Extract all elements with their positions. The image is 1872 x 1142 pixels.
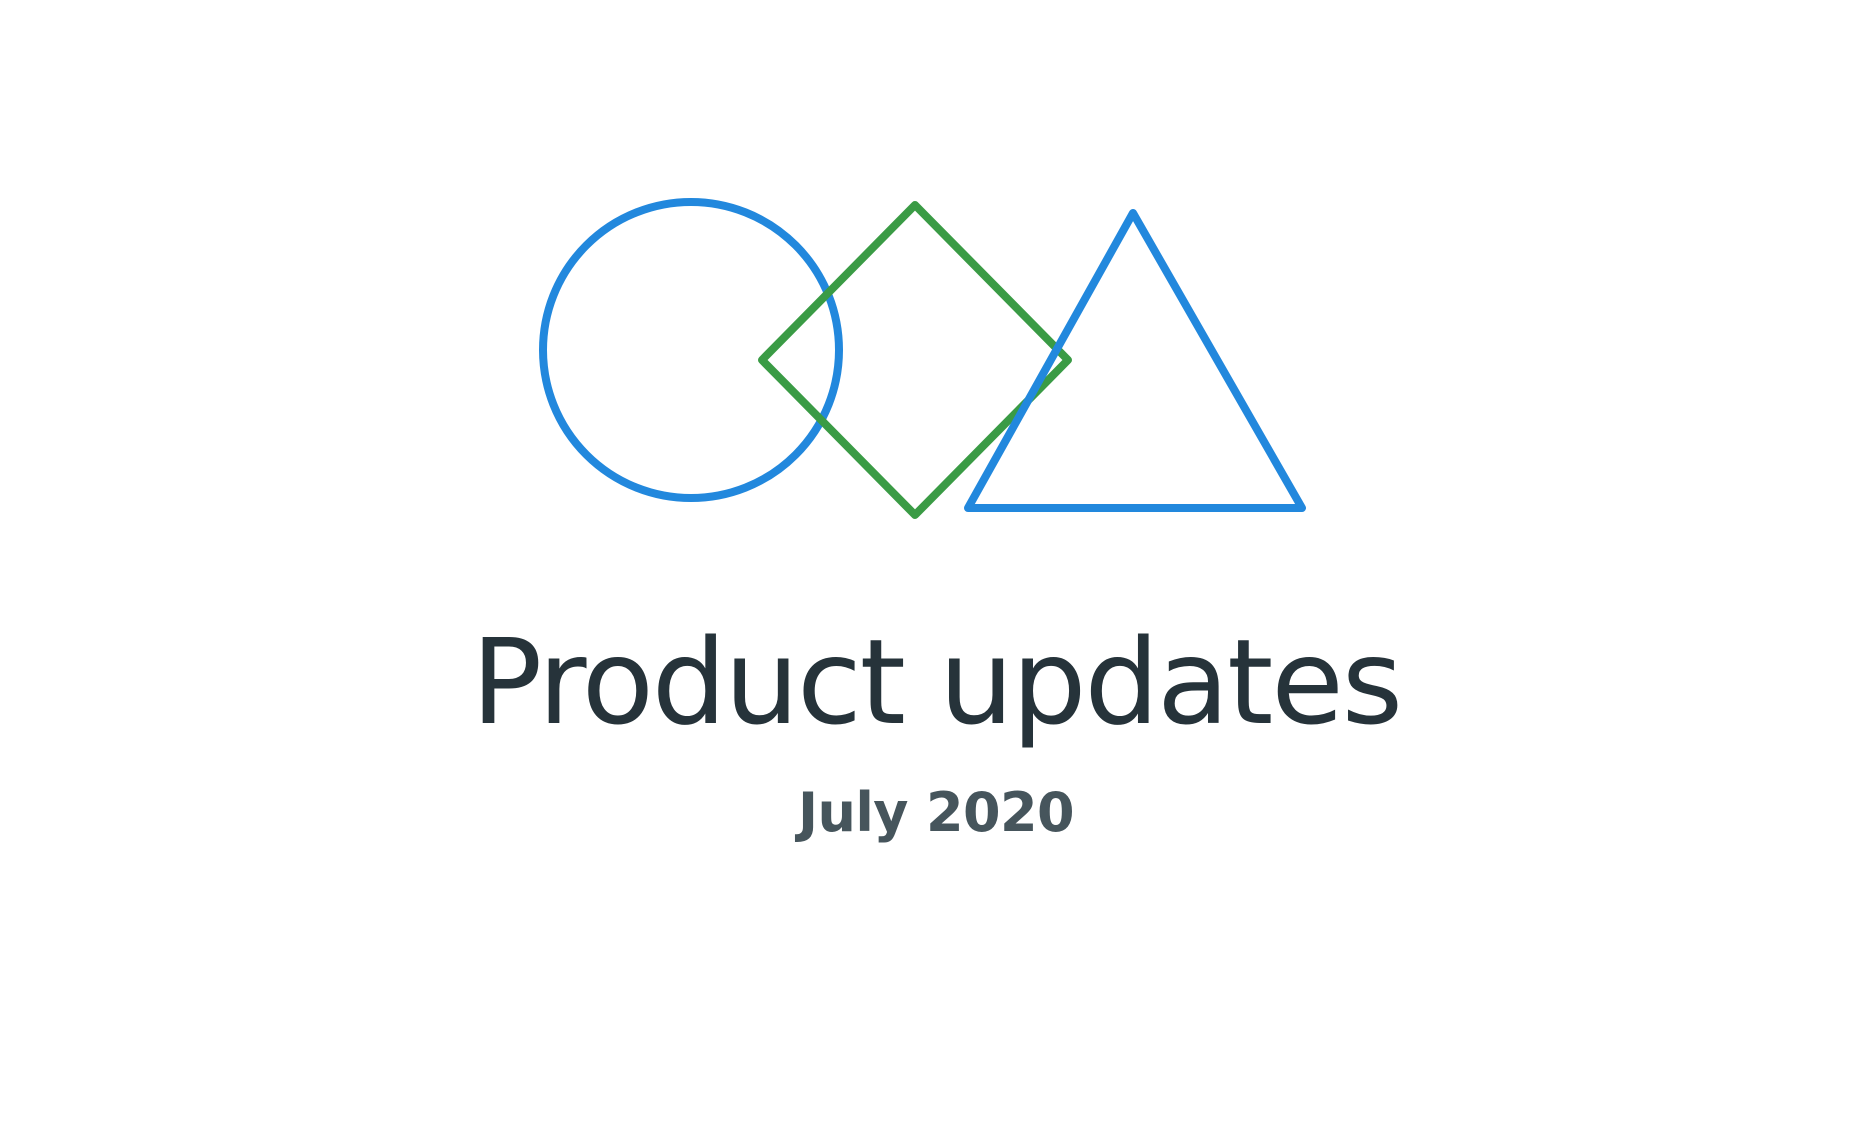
circle-icon	[543, 202, 839, 498]
logo-mark-svg	[0, 0, 1872, 620]
triangle-icon	[968, 213, 1302, 508]
page-subtitle-date: July 2020	[0, 783, 1872, 842]
page-title: Product updates	[0, 620, 1872, 745]
diamond-icon	[762, 205, 1068, 515]
logo-mark	[0, 0, 1872, 620]
title-block: Product updates July 2020	[0, 620, 1872, 842]
slide-canvas: Product updates July 2020	[0, 0, 1872, 1142]
